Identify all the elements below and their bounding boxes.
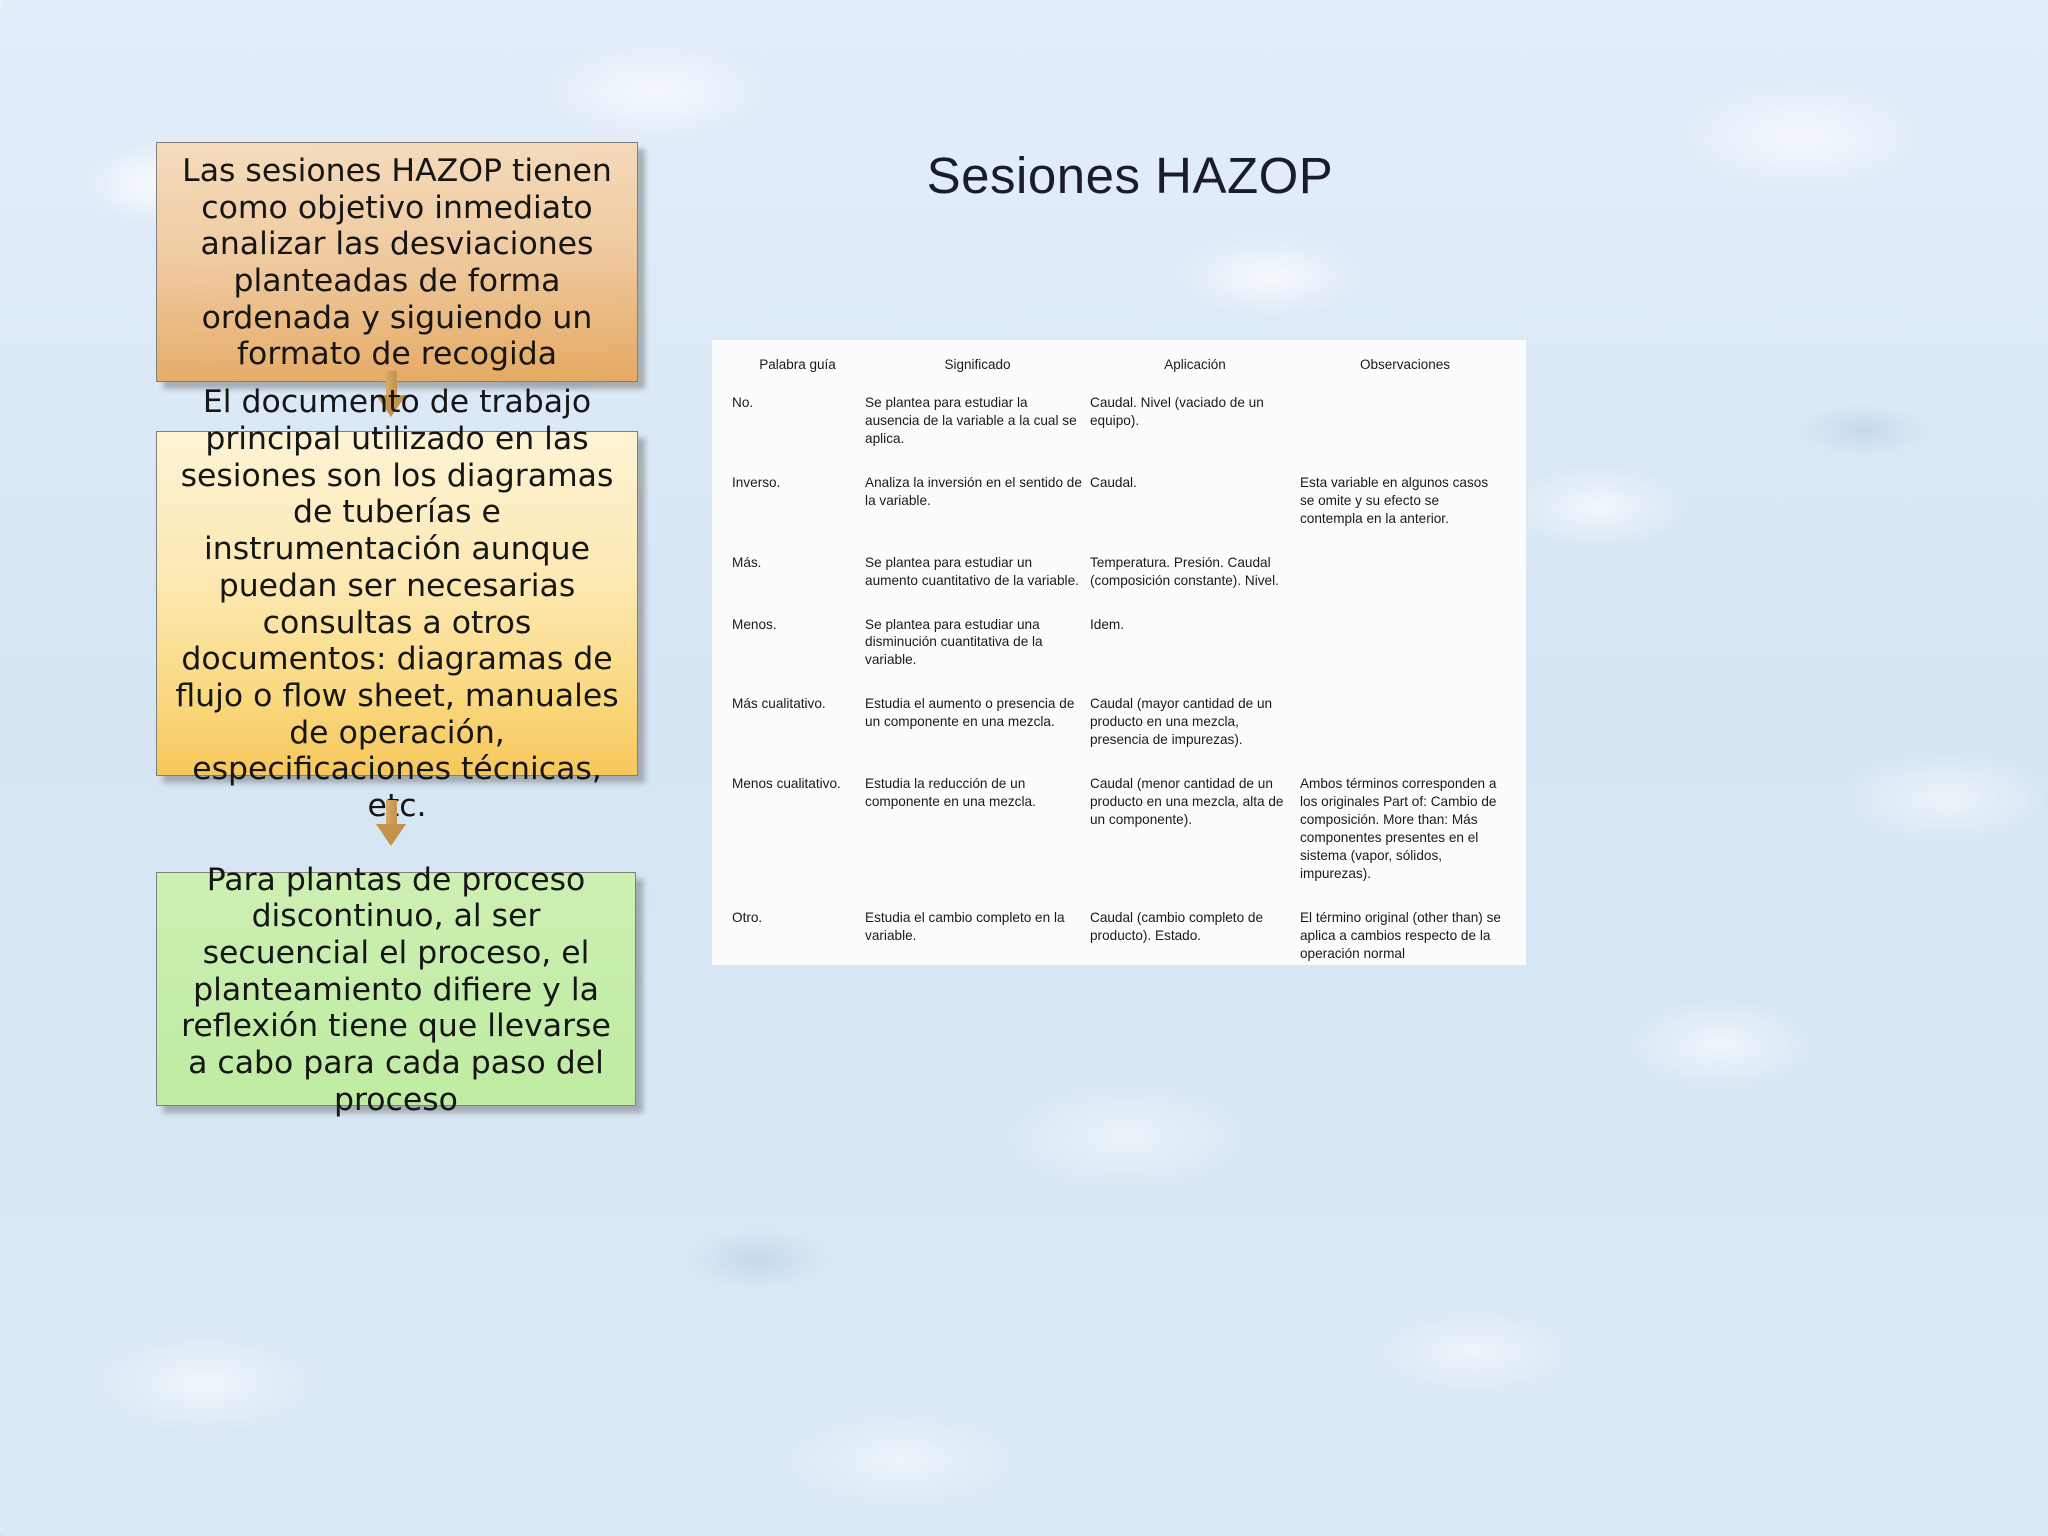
cell-significado: Se plantea para estudiar la ausencia de … (865, 394, 1090, 474)
cell-significado: Se plantea para estudiar un aumento cuan… (865, 554, 1090, 616)
column-header-palabra-guia: Palabra guía (730, 354, 865, 394)
table-body: No.Se plantea para estudiar la ausencia … (730, 394, 1510, 965)
cell-aplicacion: Caudal (menor cantidad de un producto en… (1090, 775, 1300, 909)
cell-observaciones: El término original (other than) se apli… (1300, 909, 1510, 965)
column-header-observaciones: Observaciones (1300, 354, 1510, 394)
table-row: Menos cualitativo.Estudia la reducción d… (730, 775, 1510, 909)
table-row: No.Se plantea para estudiar la ausencia … (730, 394, 1510, 474)
cell-observaciones (1300, 394, 1510, 474)
cell-aplicacion: Idem. (1090, 616, 1300, 696)
column-header-significado: Significado (865, 354, 1090, 394)
flow-box-objective-text: Las sesiones HAZOP tienen como objetivo … (171, 153, 623, 373)
table-row: Otro.Estudia el cambio completo en la va… (730, 909, 1510, 965)
table-row: Inverso.Analiza la inversión en el senti… (730, 474, 1510, 554)
cell-observaciones: Esta variable en algunos casos se omite … (1300, 474, 1510, 554)
cell-observaciones (1300, 695, 1510, 775)
arrow-shaft (386, 800, 397, 826)
cell-significado: Estudia la reducción de un componente en… (865, 775, 1090, 909)
cell-palabra-guia: Menos cualitativo. (730, 775, 865, 909)
cell-aplicacion: Temperatura. Presión. Caudal (composició… (1090, 554, 1300, 616)
cell-aplicacion: Caudal (mayor cantidad de un producto en… (1090, 695, 1300, 775)
cell-aplicacion: Caudal. Nivel (vaciado de un equipo). (1090, 394, 1300, 474)
cell-palabra-guia: Inverso. (730, 474, 865, 554)
cell-palabra-guia: Más. (730, 554, 865, 616)
cell-significado: Analiza la inversión en el sentido de la… (865, 474, 1090, 554)
cell-observaciones: Ambos términos corresponden a los origin… (1300, 775, 1510, 909)
page-title: Sesiones HAZOP (760, 146, 1500, 205)
table-row: Más.Se plantea para estudiar un aumento … (730, 554, 1510, 616)
cell-aplicacion: Caudal (cambio completo de producto). Es… (1090, 909, 1300, 965)
flow-box-documents: El documento de trabajo principal utiliz… (156, 431, 638, 776)
table-row: Menos.Se plantea para estudiar una dismi… (730, 616, 1510, 696)
cell-palabra-guia: Otro. (730, 909, 865, 965)
flow-box-batch-process: Para plantas de proceso discontinuo, al … (156, 872, 636, 1106)
cell-palabra-guia: No. (730, 394, 865, 474)
flow-box-documents-text: El documento de trabajo principal utiliz… (171, 384, 623, 824)
cell-observaciones (1300, 616, 1510, 696)
cell-significado: Estudia el aumento o presencia de un com… (865, 695, 1090, 775)
arrow-head (376, 824, 406, 846)
hazop-guide-word-table-image: Palabra guía Significado Aplicación Obse… (712, 340, 1526, 965)
flow-box-objective: Las sesiones HAZOP tienen como objetivo … (156, 142, 638, 382)
column-header-aplicacion: Aplicación (1090, 354, 1300, 394)
cell-aplicacion: Caudal. (1090, 474, 1300, 554)
cell-palabra-guia: Menos. (730, 616, 865, 696)
cell-observaciones (1300, 554, 1510, 616)
down-arrow-icon (376, 800, 406, 846)
cell-palabra-guia: Más cualitativo. (730, 695, 865, 775)
cell-significado: Se plantea para estudiar una disminución… (865, 616, 1090, 696)
table-row: Más cualitativo.Estudia el aumento o pre… (730, 695, 1510, 775)
table-header: Palabra guía Significado Aplicación Obse… (730, 354, 1510, 394)
flow-box-batch-process-text: Para plantas de proceso discontinuo, al … (171, 862, 621, 1119)
hazop-table: Palabra guía Significado Aplicación Obse… (730, 354, 1510, 965)
cell-significado: Estudia el cambio completo en la variabl… (865, 909, 1090, 965)
table-header-row: Palabra guía Significado Aplicación Obse… (730, 354, 1510, 394)
